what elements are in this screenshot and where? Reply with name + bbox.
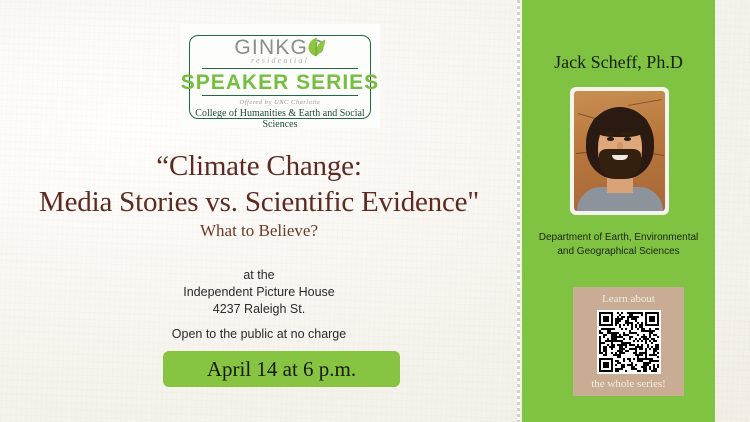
- logo-series-title: SPEAKER SERIES: [180, 71, 380, 95]
- event-date-label: April 14 at 6 p.m.: [207, 357, 356, 382]
- qr-code-card[interactable]: Learn about the whole series!: [573, 287, 684, 396]
- wall-crack-2: [628, 99, 662, 106]
- logo-sub-wordmark: residential: [180, 56, 380, 65]
- speaker-portrait: [574, 91, 665, 211]
- portrait-beard: [599, 149, 641, 179]
- portrait-fringe: [592, 111, 648, 137]
- venue-address: 4237 Raleigh St.: [0, 302, 518, 316]
- ginkgo-speaker-series-logo: GINKGO residential SPEAKER SERIES Offere…: [180, 24, 380, 128]
- event-subtitle: What to Believe?: [0, 221, 518, 241]
- portrait-brow-left: [605, 132, 615, 135]
- portrait-eye-left: [607, 137, 614, 141]
- event-date-badge: April 14 at 6 p.m.: [163, 351, 400, 387]
- logo-offered-by: Offered by UNC Charlotte: [180, 99, 380, 106]
- event-flyer: GINKGO residential SPEAKER SERIES Offere…: [0, 0, 750, 422]
- portrait-brow-right: [622, 132, 632, 135]
- qr-code-canvas: [599, 312, 659, 372]
- speaker-name: Jack Scheff, Ph.D: [522, 52, 715, 73]
- panel-divider: [517, 0, 520, 422]
- logo-rule-top: [202, 68, 358, 69]
- portrait-eye-right: [624, 137, 631, 141]
- qr-caption-top: Learn about: [573, 293, 684, 305]
- ginkgo-leaf-icon: [305, 36, 327, 58]
- qr-code-icon[interactable]: [597, 310, 661, 374]
- logo-rule-bottom: [202, 95, 358, 96]
- logo-college-name: College of Humanities & Earth and Social…: [180, 108, 380, 130]
- speaker-department: Department of Earth, Environmental and G…: [530, 231, 707, 259]
- speaker-photo-frame: [570, 87, 669, 215]
- portrait-mouth: [612, 155, 628, 160]
- venue-name: Independent Picture House: [0, 285, 518, 299]
- venue-prefix: at the: [0, 268, 518, 282]
- event-title-line-1: “Climate Change:: [0, 150, 518, 183]
- flyer-left-column: GINKGO residential SPEAKER SERIES Offere…: [0, 0, 518, 422]
- qr-caption-bottom: the whole series!: [573, 378, 684, 390]
- speaker-panel: Jack Scheff, Ph.D Departme: [522, 0, 715, 422]
- event-title-line-2: Media Stories vs. Scientific Evidence": [0, 186, 518, 219]
- admission-note: Open to the public at no charge: [0, 327, 518, 341]
